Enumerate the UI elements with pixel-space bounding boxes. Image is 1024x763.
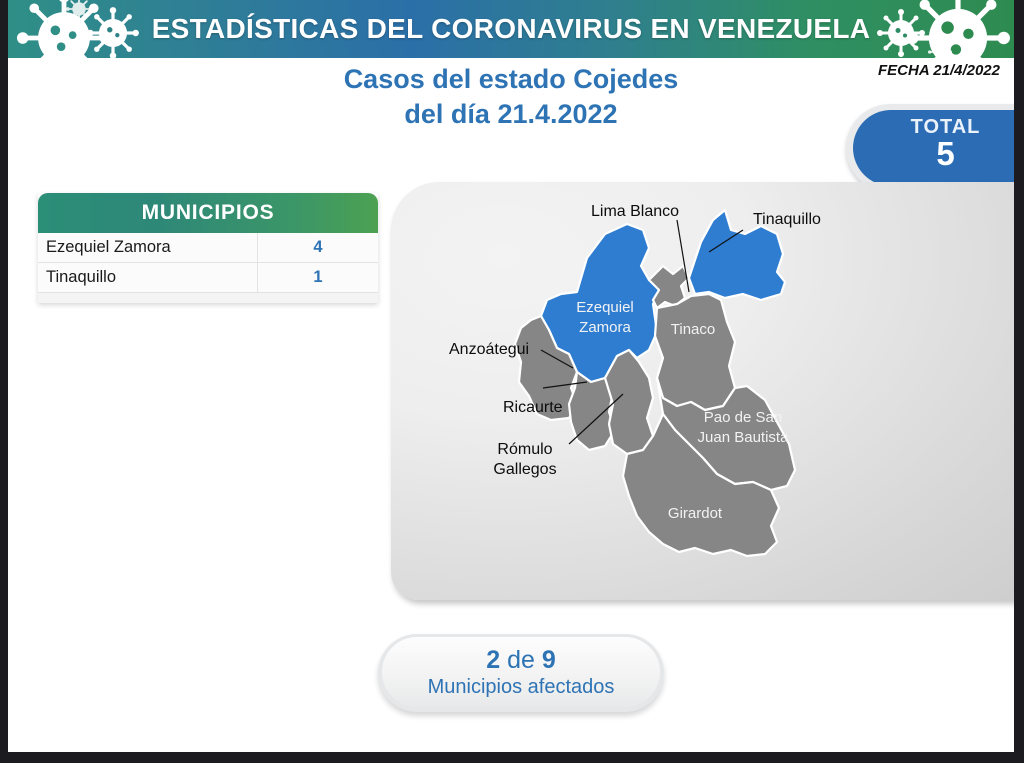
municipios-table-footer: [38, 293, 378, 303]
municipio-name: Tinaquillo: [38, 268, 257, 287]
map-callout-tinaquillo: Tinaquillo: [753, 211, 821, 228]
map-callout-lima-blanco: Lima Blanco: [591, 203, 679, 220]
map-region-tinaco[interactable]: [655, 294, 735, 410]
total-value: 5: [853, 137, 1014, 172]
map-region-romulo-gallegos[interactable]: [605, 350, 653, 454]
banner-title: ESTADÍSTICAS DEL CORONAVIRUS EN VENEZUEL…: [8, 0, 1014, 58]
map-callout-ricaurte: Ricaurte: [503, 399, 563, 416]
affected-summary-caption: Municipios afectados: [382, 676, 660, 699]
map-label-pao: Pao de San: [704, 409, 782, 426]
map-callout-romulo-gallegos: Rómulo: [497, 441, 552, 458]
affected-connector: de: [507, 646, 535, 674]
total-badge: TOTAL 5: [846, 104, 1014, 192]
municipio-cases: 1: [257, 263, 378, 292]
map-label-tinaco: Tinaco: [671, 321, 715, 338]
slide-canvas: ESTADÍSTICAS DEL CORONAVIRUS EN VENEZUEL…: [8, 0, 1014, 752]
map-label-girardot: Girardot: [668, 505, 723, 522]
affected-summary-counts: 2 de 9: [382, 646, 660, 675]
table-row: Ezequiel Zamora 4: [38, 233, 378, 263]
municipios-table-header: MUNICIPIOS: [38, 193, 378, 233]
municipio-cases: 4: [257, 233, 378, 262]
map-label-ezequiel-zamora-2: Zamora: [579, 319, 631, 336]
total-badge-body: TOTAL 5: [853, 110, 1014, 186]
affected-count: 2: [486, 646, 500, 674]
affected-summary-body: 2 de 9 Municipios afectados: [382, 637, 660, 707]
map-callout-anzoategui: Anzoátegui: [449, 341, 529, 358]
map-label-ezequiel-zamora: Ezequiel: [576, 299, 634, 316]
fecha-label: FECHA 21/4/2022: [878, 62, 1000, 79]
total-label: TOTAL: [853, 116, 1014, 139]
map-label-pao-2: Juan Bautista: [698, 429, 790, 446]
municipio-name: Ezequiel Zamora: [38, 238, 257, 257]
page-title-line1: Casos del estado Cojedes: [8, 62, 1014, 97]
header-banner: ESTADÍSTICAS DEL CORONAVIRUS EN VENEZUEL…: [8, 0, 1014, 58]
total-municipalities: 9: [542, 646, 556, 674]
cojedes-map: Ezequiel Zamora Tinaco Pao de San Juan B…: [391, 182, 1014, 600]
affected-summary-badge: 2 de 9 Municipios afectados: [378, 634, 664, 712]
map-callout-romulo-gallegos-2: Gallegos: [493, 461, 556, 478]
table-row: Tinaquillo 1: [38, 263, 378, 293]
municipios-table: MUNICIPIOS Ezequiel Zamora 4 Tinaquillo …: [38, 193, 378, 303]
